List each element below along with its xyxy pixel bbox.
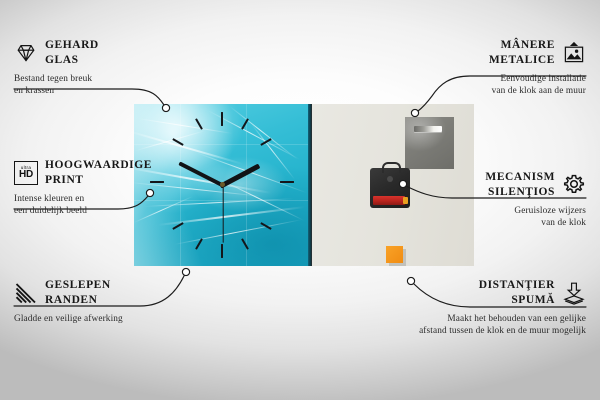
callout-title-line1: MÂNERE bbox=[489, 38, 555, 53]
hand-hub bbox=[220, 182, 225, 187]
callout-desc-line2: van de klok aan de muur bbox=[386, 85, 586, 97]
callout-desc-line2: een duidelijk beeld bbox=[14, 205, 214, 217]
callout-title-line1: MECANISM bbox=[485, 170, 555, 185]
arrow-down-onto-stack-icon bbox=[562, 281, 586, 305]
diamond-icon bbox=[14, 41, 38, 65]
callout-title-line2: SILENŢIOS bbox=[485, 185, 555, 200]
callout-foam-spacer: DISTANŢIER SPUMĂ Maakt het behouden van … bbox=[354, 278, 586, 337]
callout-title-line1: DISTANŢIER bbox=[479, 278, 555, 293]
callout-desc-line1: Eenvoudige installatie bbox=[386, 73, 586, 85]
picture-frame-icon bbox=[562, 41, 586, 65]
callout-desc-line1: Intense kleuren en bbox=[14, 193, 214, 205]
callout-title-line2: METALICE bbox=[489, 53, 555, 68]
callout-title-line1: GESLEPEN bbox=[45, 278, 111, 293]
callout-header: GESLEPEN RANDEN bbox=[14, 278, 214, 307]
infographic-canvas: GEHARD GLAS Bestand tegen breuk en krass… bbox=[0, 0, 600, 400]
callout-desc-line2: afstand tussen de klok en de muur mogeli… bbox=[354, 325, 586, 337]
callout-header: MECANISM SILENŢIOS bbox=[386, 170, 586, 199]
callout-desc-line1: Geruisloze wijzers bbox=[386, 205, 586, 217]
callout-title-line1: GEHARD bbox=[45, 38, 99, 53]
callout-desc-line2: van de klok bbox=[386, 217, 586, 229]
callout-desc-line2: en krassen bbox=[14, 85, 204, 97]
callout-header: ultraHD HOOGWAARDIGE PRINT bbox=[14, 158, 214, 187]
callout-silent-mechanism: MECANISM SILENŢIOS Geruisloze wijzers va… bbox=[386, 170, 586, 229]
callout-polished-edges: GESLEPEN RANDEN Gladde en veilige afwerk… bbox=[14, 278, 214, 325]
callout-desc-line1: Gladde en veilige afwerking bbox=[14, 313, 214, 325]
callout-header: GEHARD GLAS bbox=[14, 38, 204, 67]
ultra-hd-badge-icon: ultraHD bbox=[14, 161, 38, 185]
callout-header: MÂNERE METALICE bbox=[386, 38, 586, 67]
callout-title-line2: SPUMĂ bbox=[479, 293, 555, 308]
callout-metal-handles: MÂNERE METALICE Eenvoudige installatie v… bbox=[386, 38, 586, 97]
callout-desc-line1: Bestand tegen breuk bbox=[14, 73, 204, 85]
callout-title-line2: RANDEN bbox=[45, 293, 111, 308]
callout-desc-line1: Maakt het behouden van een gelijke bbox=[354, 313, 586, 325]
callout-high-quality-print: ultraHD HOOGWAARDIGE PRINT Intense kleur… bbox=[14, 158, 214, 217]
callout-tempered-glass: GEHARD GLAS Bestand tegen breuk en krass… bbox=[14, 38, 204, 97]
callout-title-line2: GLAS bbox=[45, 53, 99, 68]
beveled-edge-icon bbox=[14, 281, 38, 305]
callout-title-line2: PRINT bbox=[45, 173, 152, 188]
callout-header: DISTANŢIER SPUMĂ bbox=[354, 278, 586, 307]
gear-icon bbox=[562, 173, 586, 197]
callout-title-line1: HOOGWAARDIGE bbox=[45, 158, 152, 173]
